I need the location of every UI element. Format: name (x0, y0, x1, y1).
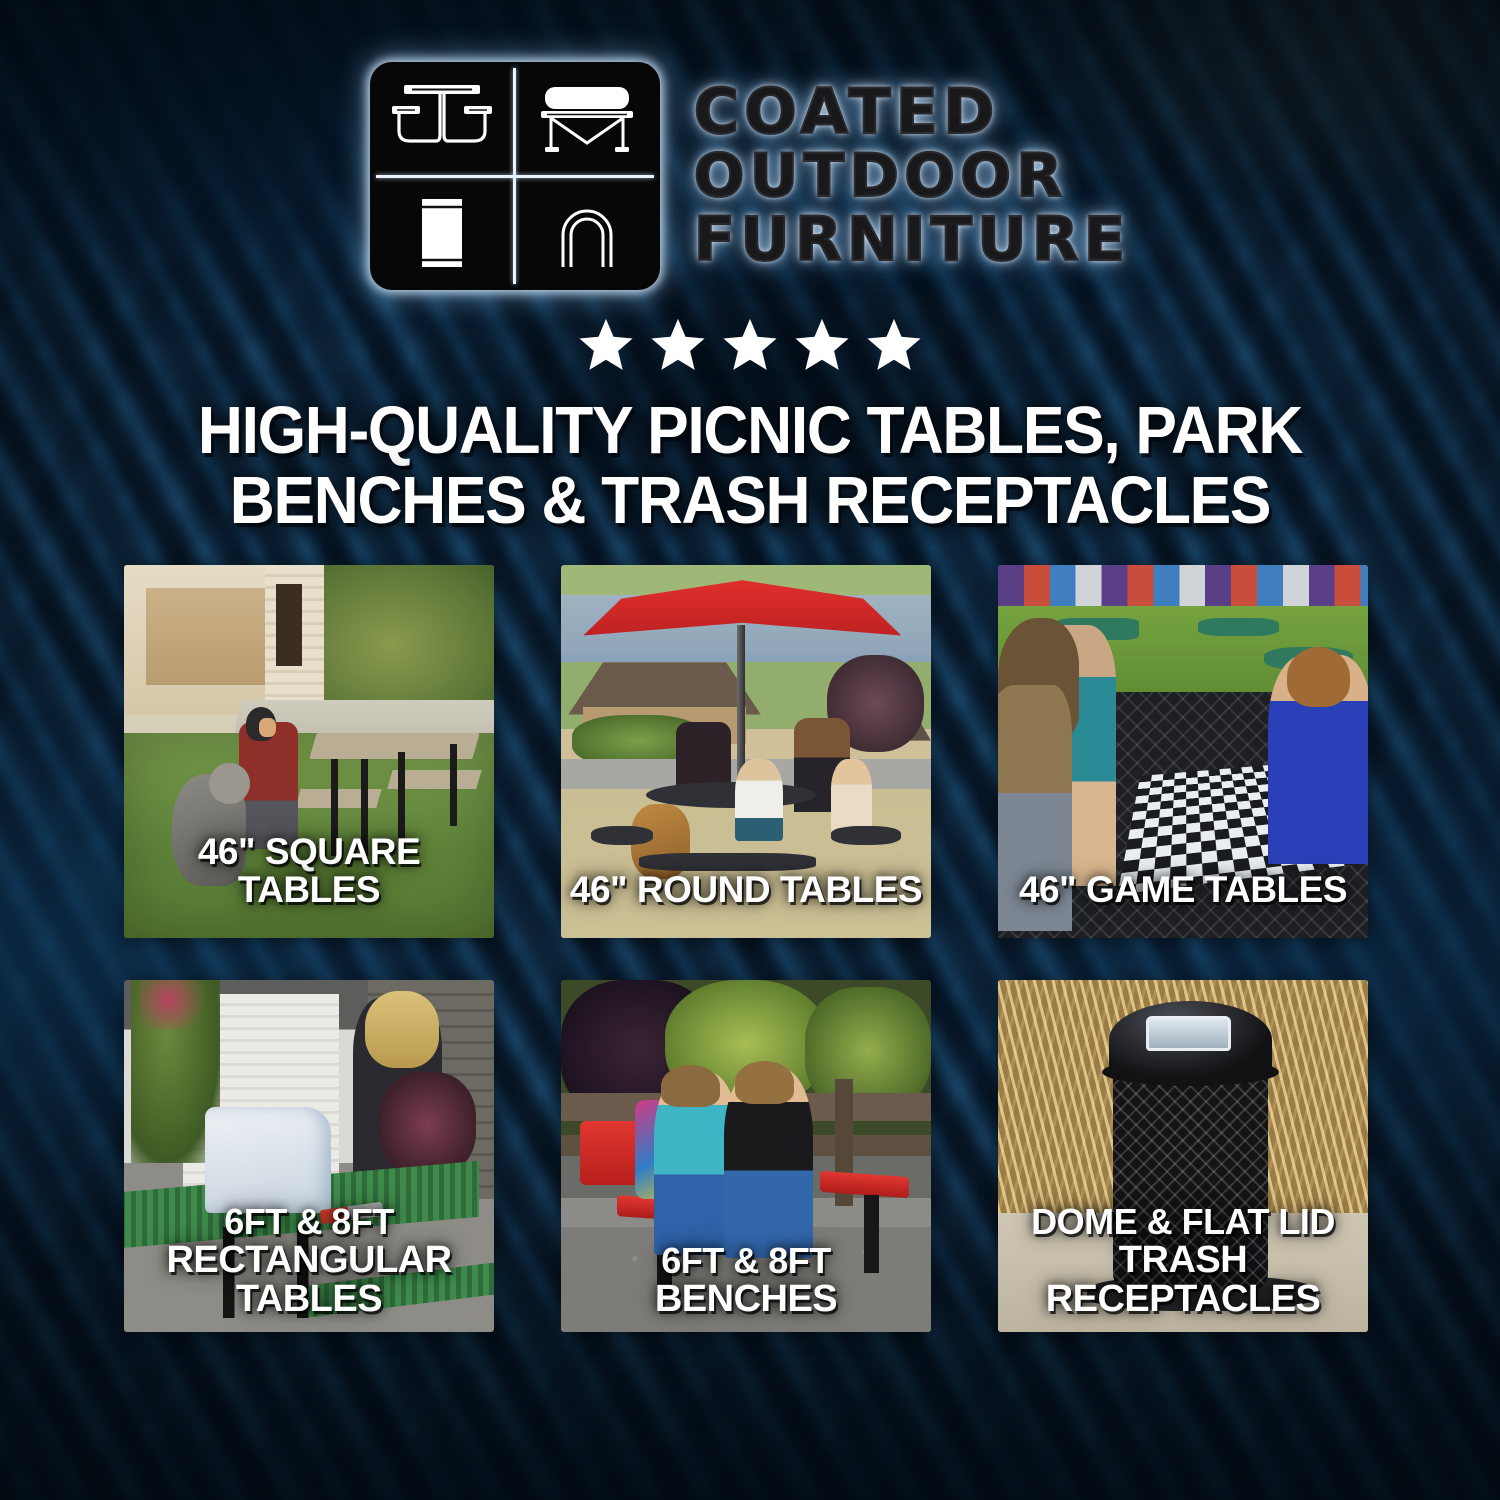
product-tile-round-tables[interactable]: 46" ROUND TABLES (561, 565, 931, 938)
logo-line-1: COATED (694, 80, 1131, 144)
brand-logo[interactable]: COATED OUTDOOR FURNITURE (0, 0, 1500, 290)
product-caption-line-2: TRASH RECEPTACLES (998, 1241, 1368, 1319)
product-tile-benches[interactable]: 6FT & 8FT BENCHES (561, 980, 931, 1332)
product-caption: DOME & FLAT LID TRASH RECEPTACLES (998, 1204, 1368, 1318)
product-caption: 6FT & 8FT RECTANGULAR TABLES (124, 1204, 494, 1318)
trash-receptacle-icon (370, 176, 515, 290)
page-title: HIGH-QUALITY PICNIC TABLES, PARK BENCHES… (53, 396, 1448, 535)
logo-icon-grid (370, 62, 660, 290)
product-tile-rectangular-tables[interactable]: 6FT & 8FT RECTANGULAR TABLES (124, 980, 494, 1332)
product-grid: 46" SQUARE TABLES 46" ROUND TABLES (124, 565, 1376, 1332)
promo-banner: COATED OUTDOOR FURNITURE HIGH-QUALITY PI… (0, 0, 1500, 1500)
product-caption: 46" ROUND TABLES (561, 871, 931, 909)
product-caption: 6FT & 8FT BENCHES (561, 1243, 931, 1318)
product-caption-line-2: BENCHES (561, 1280, 931, 1319)
star-icon (792, 316, 852, 374)
star-rating (0, 316, 1500, 374)
park-bench-icon (515, 62, 660, 176)
product-tile-game-tables[interactable]: 46" GAME TABLES (998, 565, 1368, 938)
logo-line-3: FURNITURE (694, 209, 1131, 272)
headline-line-2: BENCHES & TRASH RECEPTACLES (53, 466, 1448, 536)
star-icon (720, 316, 780, 374)
headline-line-1: HIGH-QUALITY PICNIC TABLES, PARK (53, 396, 1448, 466)
star-icon (864, 316, 924, 374)
product-caption-line-1: 6FT & 8FT (661, 1240, 831, 1281)
product-caption-line-1: 6FT & 8FT (224, 1201, 394, 1242)
product-caption: 46" SQUARE TABLES (124, 833, 494, 908)
star-icon (576, 316, 636, 374)
product-tile-trash-receptacles[interactable]: DOME & FLAT LID TRASH RECEPTACLES (998, 980, 1368, 1332)
product-tile-square-tables[interactable]: 46" SQUARE TABLES (124, 565, 494, 938)
product-caption-line-2: RECTANGULAR TABLES (124, 1241, 494, 1319)
product-caption-line-1: DOME & FLAT LID (1031, 1201, 1335, 1242)
product-caption: 46" GAME TABLES (998, 871, 1368, 909)
picnic-table-icon (370, 62, 515, 176)
bike-rack-icon (515, 176, 660, 290)
logo-wordmark: COATED OUTDOOR FURNITURE (694, 80, 1131, 272)
logo-line-2: OUTDOOR (694, 146, 1131, 208)
star-icon (648, 316, 708, 374)
